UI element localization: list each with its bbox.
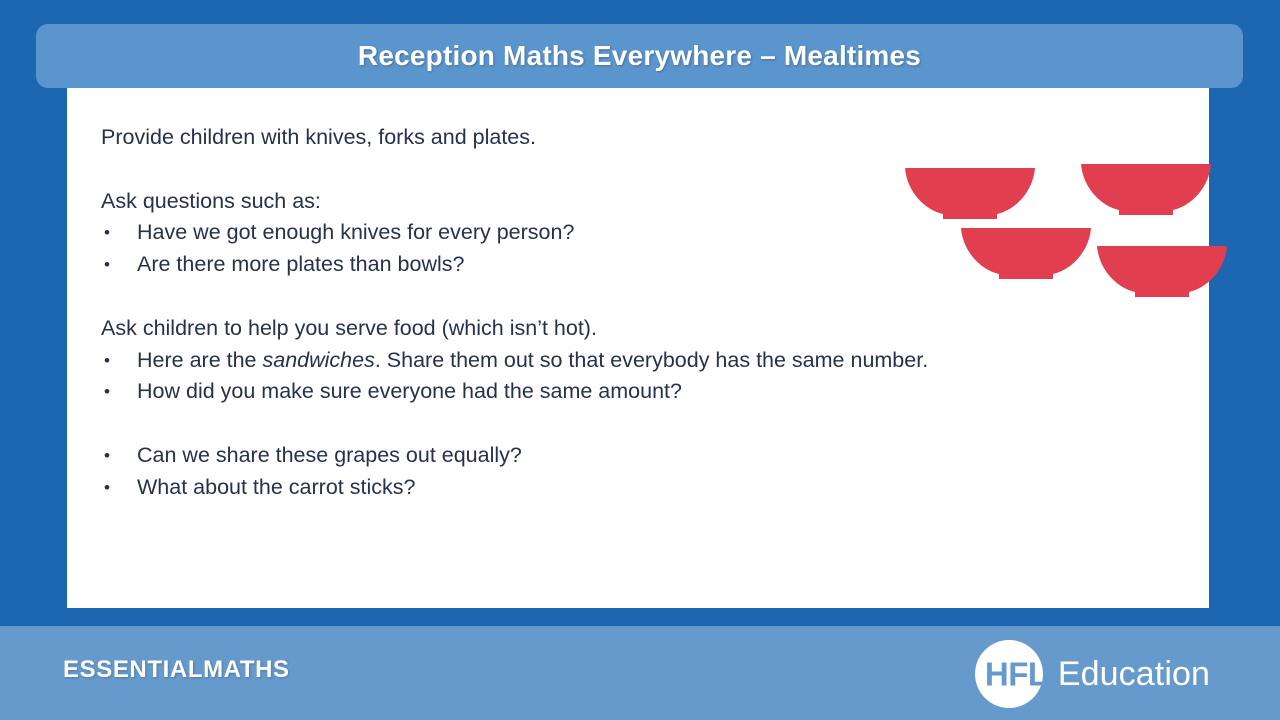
content-panel: Provide children with knives, forks and … [67, 88, 1209, 608]
list-item-label: Can we share these grapes out equally? [137, 440, 1061, 472]
list-item: • Here are the sandwiches. Share them ou… [101, 345, 1061, 377]
bowl-shape [1097, 244, 1227, 300]
bowl-shape [1081, 162, 1211, 218]
hfl-logo-word: Education [1058, 657, 1210, 691]
bowl-shape [905, 166, 1035, 222]
list-item: • How did you make sure everyone had the… [101, 376, 1061, 408]
bullet-glyph: • [101, 376, 137, 408]
list-item-text-emphasis: sandwiches [262, 348, 374, 372]
bullet-glyph: • [101, 472, 137, 504]
slide-canvas: Reception Maths Everywhere – Mealtimes P… [0, 0, 1280, 720]
list-item-label: What about the carrot sticks? [137, 472, 1061, 504]
bowl-icon [1097, 244, 1227, 300]
bullet-glyph: • [101, 249, 137, 281]
list-item: • Can we share these grapes out equally? [101, 440, 1061, 472]
bowl-icon [961, 226, 1091, 282]
page-title: Reception Maths Everywhere – Mealtimes [358, 40, 921, 72]
footer-brand-label: ESSENTIALMATHS [63, 656, 290, 684]
hfl-logo-letters: HFL [985, 658, 1048, 691]
hfl-education-logo: HFL Education [975, 640, 1210, 708]
slide-title-bar: Reception Maths Everywhere – Mealtimes [36, 24, 1243, 88]
hfl-logo-mark: HFL [975, 640, 1049, 708]
bowl-shape [961, 226, 1091, 282]
bowl-icon [1081, 162, 1211, 218]
bowls-illustration [829, 166, 1174, 316]
bullet-glyph: • [101, 440, 137, 472]
bullet-glyph: • [101, 217, 137, 249]
serve-food-heading: Ask children to help you serve food (whi… [101, 313, 1061, 345]
bullet-glyph: • [101, 345, 137, 377]
list-item-text-prefix: Here are the [137, 348, 262, 372]
list-item-text-suffix: . Share them out so that everybody has t… [375, 348, 928, 372]
paragraph-spacer [101, 408, 1061, 440]
list-item-label: Here are the sandwiches. Share them out … [137, 345, 1061, 377]
bowl-icon [905, 166, 1035, 222]
list-item: • What about the carrot sticks? [101, 472, 1061, 504]
slide-footer: ESSENTIALMATHS HFL Education [0, 626, 1280, 720]
intro-paragraph: Provide children with knives, forks and … [101, 122, 1061, 154]
list-item-label: How did you make sure everyone had the s… [137, 376, 1061, 408]
